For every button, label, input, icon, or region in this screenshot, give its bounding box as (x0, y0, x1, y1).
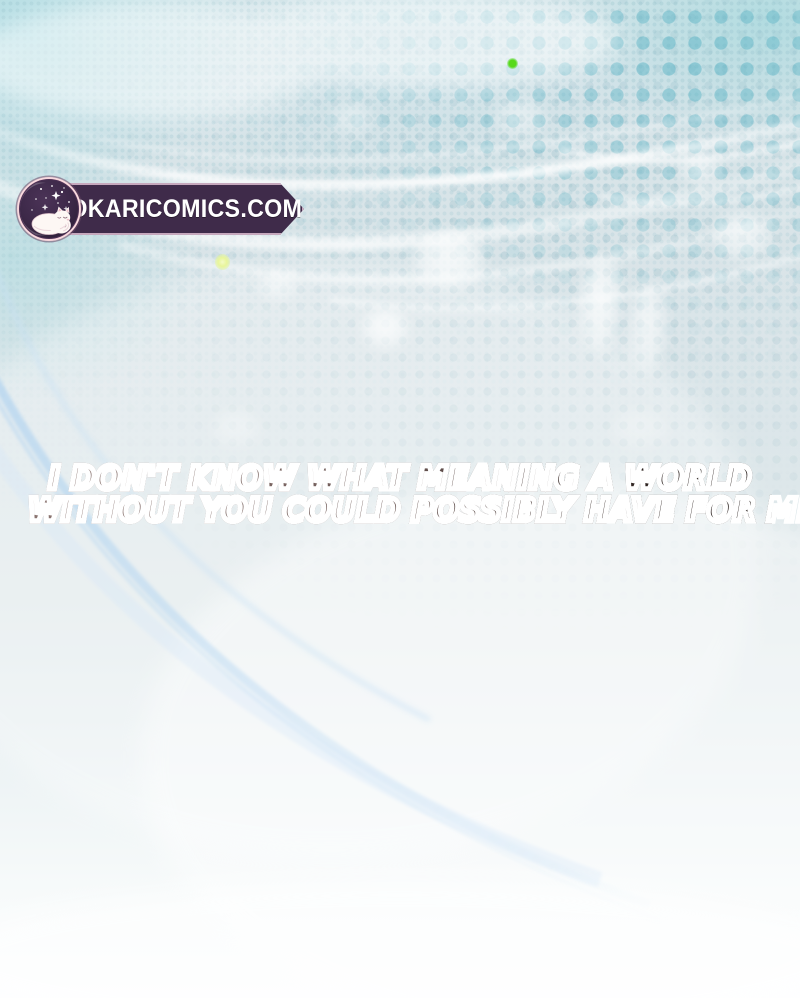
watermark-banner: ROKARICOMICS.COM (56, 183, 304, 235)
yellow-sparkle-icon (215, 254, 230, 270)
sleeping-cat-moon-logo (12, 172, 86, 246)
watermark-site-label: ROKARICOMICS.COM (64, 183, 270, 235)
comic-panel: ROKARICOMICS.COM (0, 0, 800, 998)
background-artwork (0, 0, 800, 998)
green-sparkle-icon (507, 58, 518, 69)
